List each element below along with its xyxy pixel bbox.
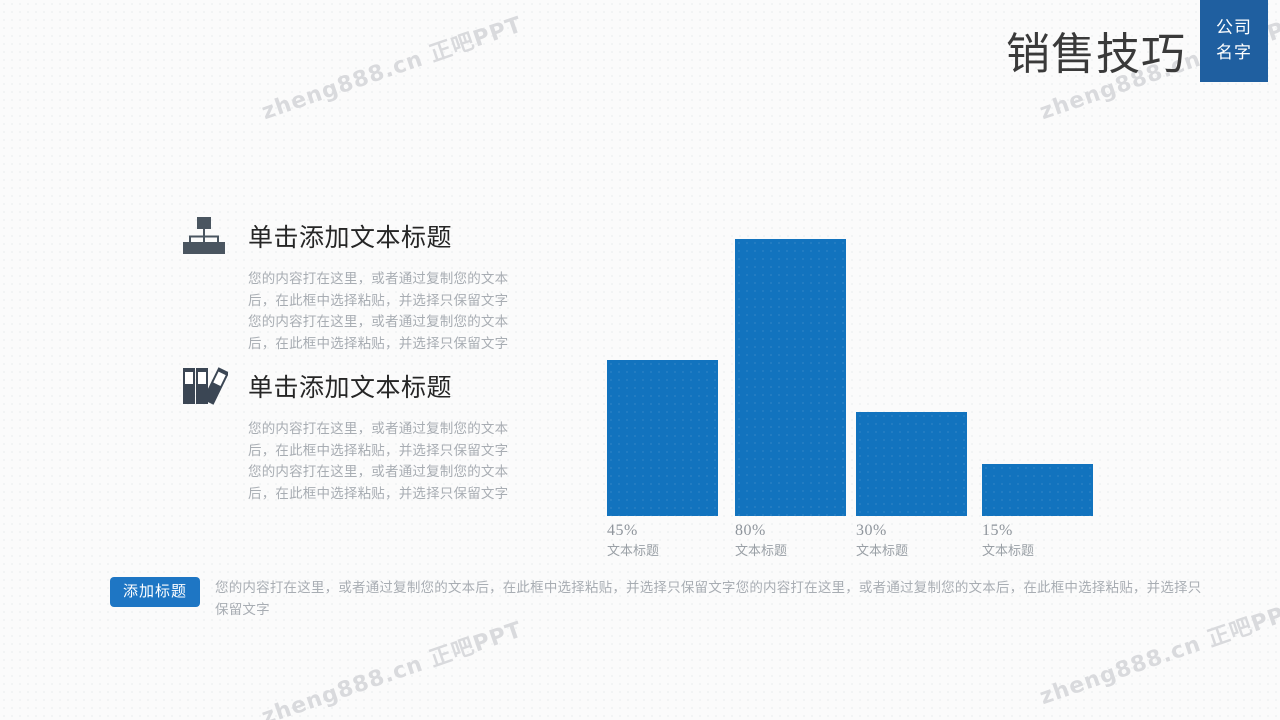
bar-value-label: 30% <box>856 522 976 540</box>
page-title: 销售技巧 <box>1006 33 1186 77</box>
feature-body-line: 您的内容打在这里，或者通过复制您的文本 <box>248 418 557 440</box>
slide-canvas: zheng888.cn 正吧PPT zheng888.cn 正吧PPT zhen… <box>0 0 1280 720</box>
feature-title: 单击添加文本标题 <box>248 218 452 254</box>
bar-category-label: 文本标题 <box>856 541 976 560</box>
bar-chart: 45% 文本标题 80% 文本标题 30% 文本标题 <box>597 150 1137 570</box>
bar-value-label: 45% <box>607 522 727 540</box>
bar <box>607 360 718 516</box>
feature-header: 单击添加文本标题 <box>182 364 557 408</box>
add-title-button[interactable]: 添加标题 <box>110 577 200 607</box>
feature-body-line: 您的内容打在这里，或者通过复制您的文本 <box>248 311 557 333</box>
feature-body-line: 您的内容打在这里，或者通过复制您的文本 <box>248 461 557 483</box>
feature-body-line: 后，在此框中选择粘贴，并选择只保留文字 <box>248 290 557 312</box>
bar <box>856 412 967 516</box>
bar-label: 15% 文本标题 <box>982 522 1102 560</box>
bar-value-label: 80% <box>735 522 855 540</box>
bar-chart-plot-area: 45% 文本标题 80% 文本标题 30% 文本标题 <box>597 170 1137 516</box>
slide-header: 销售技巧 公司 名字 <box>1006 0 1280 82</box>
feature-body-line: 后，在此框中选择粘贴，并选择只保留文字 <box>248 333 557 355</box>
watermark: zheng888.cn 正吧PPT <box>257 612 526 720</box>
company-name-badge: 公司 名字 <box>1200 0 1268 82</box>
books-icon <box>182 366 230 406</box>
footer-description: 您的内容打在这里，或者通过复制您的文本后，在此框中选择粘贴，并选择只保留文字您的… <box>215 577 1205 621</box>
bar-value-label: 15% <box>982 522 1102 540</box>
bar <box>735 239 846 516</box>
feature-body-line: 您的内容打在这里，或者通过复制您的文本 <box>248 268 557 290</box>
bar-category-label: 文本标题 <box>607 541 727 560</box>
feature-header: 单击添加文本标题 <box>182 214 557 258</box>
feature-body-line: 后，在此框中选择粘贴，并选择只保留文字 <box>248 440 557 462</box>
bar-category-label: 文本标题 <box>735 541 855 560</box>
bar-label: 45% 文本标题 <box>607 522 727 560</box>
bar <box>982 464 1093 516</box>
company-badge-line2: 名字 <box>1216 41 1252 66</box>
watermark: zheng888.cn 正吧PPT <box>257 7 526 126</box>
feature-title: 单击添加文本标题 <box>248 368 452 404</box>
company-badge-line1: 公司 <box>1216 16 1252 41</box>
feature-block: 单击添加文本标题 您的内容打在这里，或者通过复制您的文本 后，在此框中选择粘贴，… <box>182 364 557 504</box>
feature-body: 您的内容打在这里，或者通过复制您的文本 后，在此框中选择粘贴，并选择只保留文字 … <box>248 418 557 504</box>
bar-label: 80% 文本标题 <box>735 522 855 560</box>
footer-note: 添加标题 您的内容打在这里，或者通过复制您的文本后，在此框中选择粘贴，并选择只保… <box>110 577 1220 621</box>
bar-category-label: 文本标题 <box>982 541 1102 560</box>
feature-block: 单击添加文本标题 您的内容打在这里，或者通过复制您的文本 后，在此框中选择粘贴，… <box>182 214 557 354</box>
org-chart-icon <box>182 216 230 256</box>
feature-body: 您的内容打在这里，或者通过复制您的文本 后，在此框中选择粘贴，并选择只保留文字 … <box>248 268 557 354</box>
feature-body-line: 后，在此框中选择粘贴，并选择只保留文字 <box>248 483 557 505</box>
bar-label: 30% 文本标题 <box>856 522 976 560</box>
